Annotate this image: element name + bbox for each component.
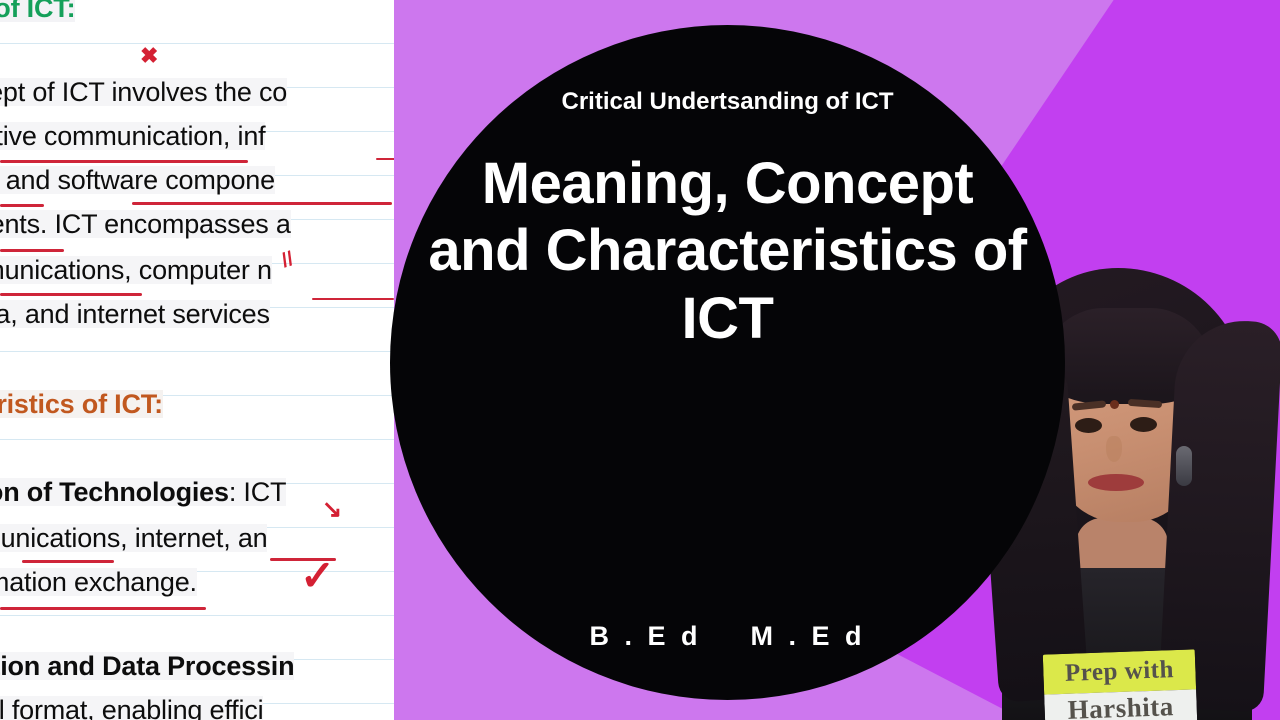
- heading-characteristics-of-ict: ...cteristics of ICT:: [0, 390, 163, 418]
- body-line-3: are and software compone: [0, 166, 275, 194]
- final-line-1: ization and Data Processin: [0, 652, 294, 680]
- final-line-2: gital format, enabling effici: [0, 696, 263, 720]
- red-x-mark-icon: ✖: [140, 45, 158, 67]
- presenter-eye-right: [1130, 417, 1157, 432]
- body-line-2: fective communication, inf: [0, 122, 265, 150]
- video-frame: ...pt of ICT: ✖ ncept of ICT involves th…: [0, 0, 1280, 720]
- lesson-title: Meaning, Concept and Characteristics of …: [428, 150, 1028, 352]
- presenter-bindi: [1110, 400, 1119, 409]
- body-line-5: mmunications, computer n: [0, 256, 272, 284]
- section-line-2: mmunications, internet, an: [0, 524, 267, 552]
- red-underline: [0, 249, 64, 252]
- red-check-mark-icon: ✓: [300, 556, 335, 598]
- presenter-lips: [1088, 474, 1144, 491]
- presenter-eye-left: [1075, 418, 1102, 433]
- section-line-bold: ation of Technologies: ICT: [0, 478, 286, 506]
- title-circle-overlay: Critical Undertsanding of ICT Meaning, C…: [390, 25, 1065, 700]
- section-line-rest-text: : ICT: [229, 477, 287, 507]
- red-underline: [22, 560, 114, 563]
- red-underline: [0, 160, 248, 163]
- badge-top-row: Prep with: [1043, 649, 1196, 694]
- red-underline: [0, 204, 44, 207]
- section-line-bold-text: ation of Technologies: [0, 477, 229, 507]
- red-underline: [0, 607, 206, 610]
- badge-line1: Prep with: [1065, 656, 1175, 688]
- badge-bottom-row: Harshita: [1044, 689, 1197, 720]
- section-line-3: formation exchange.: [0, 568, 197, 596]
- body-line-4: onents. ICT encompasses a: [0, 210, 291, 238]
- red-double-slash-mark-icon: //: [279, 249, 296, 271]
- presenter-earring: [1176, 446, 1192, 486]
- body-line-6: edia, and internet services: [0, 300, 270, 328]
- body-line-1: ncept of ICT involves the co: [0, 78, 287, 106]
- badge-line2: Harshita: [1067, 691, 1174, 720]
- heading-concept-of-ict: ...pt of ICT:: [0, 0, 75, 22]
- red-underline: [0, 293, 142, 296]
- final-line-1-text: ization and Data Processin: [0, 651, 294, 681]
- notes-document[interactable]: ...pt of ICT: ✖ ncept of ICT involves th…: [0, 0, 394, 720]
- tshirt-brand-badge: Prep with Harshita: [1043, 649, 1197, 720]
- degree-bed: B . E d: [589, 621, 701, 651]
- course-subtitle: Critical Undertsanding of ICT: [513, 83, 943, 120]
- red-underline: [312, 298, 394, 300]
- red-arrow-mark-icon: ↘: [322, 498, 342, 522]
- presenter-nose: [1106, 436, 1122, 462]
- degrees-row: B . E d M . E d: [390, 621, 1065, 652]
- degree-med: M . E d: [751, 621, 866, 651]
- red-underline: [132, 202, 392, 205]
